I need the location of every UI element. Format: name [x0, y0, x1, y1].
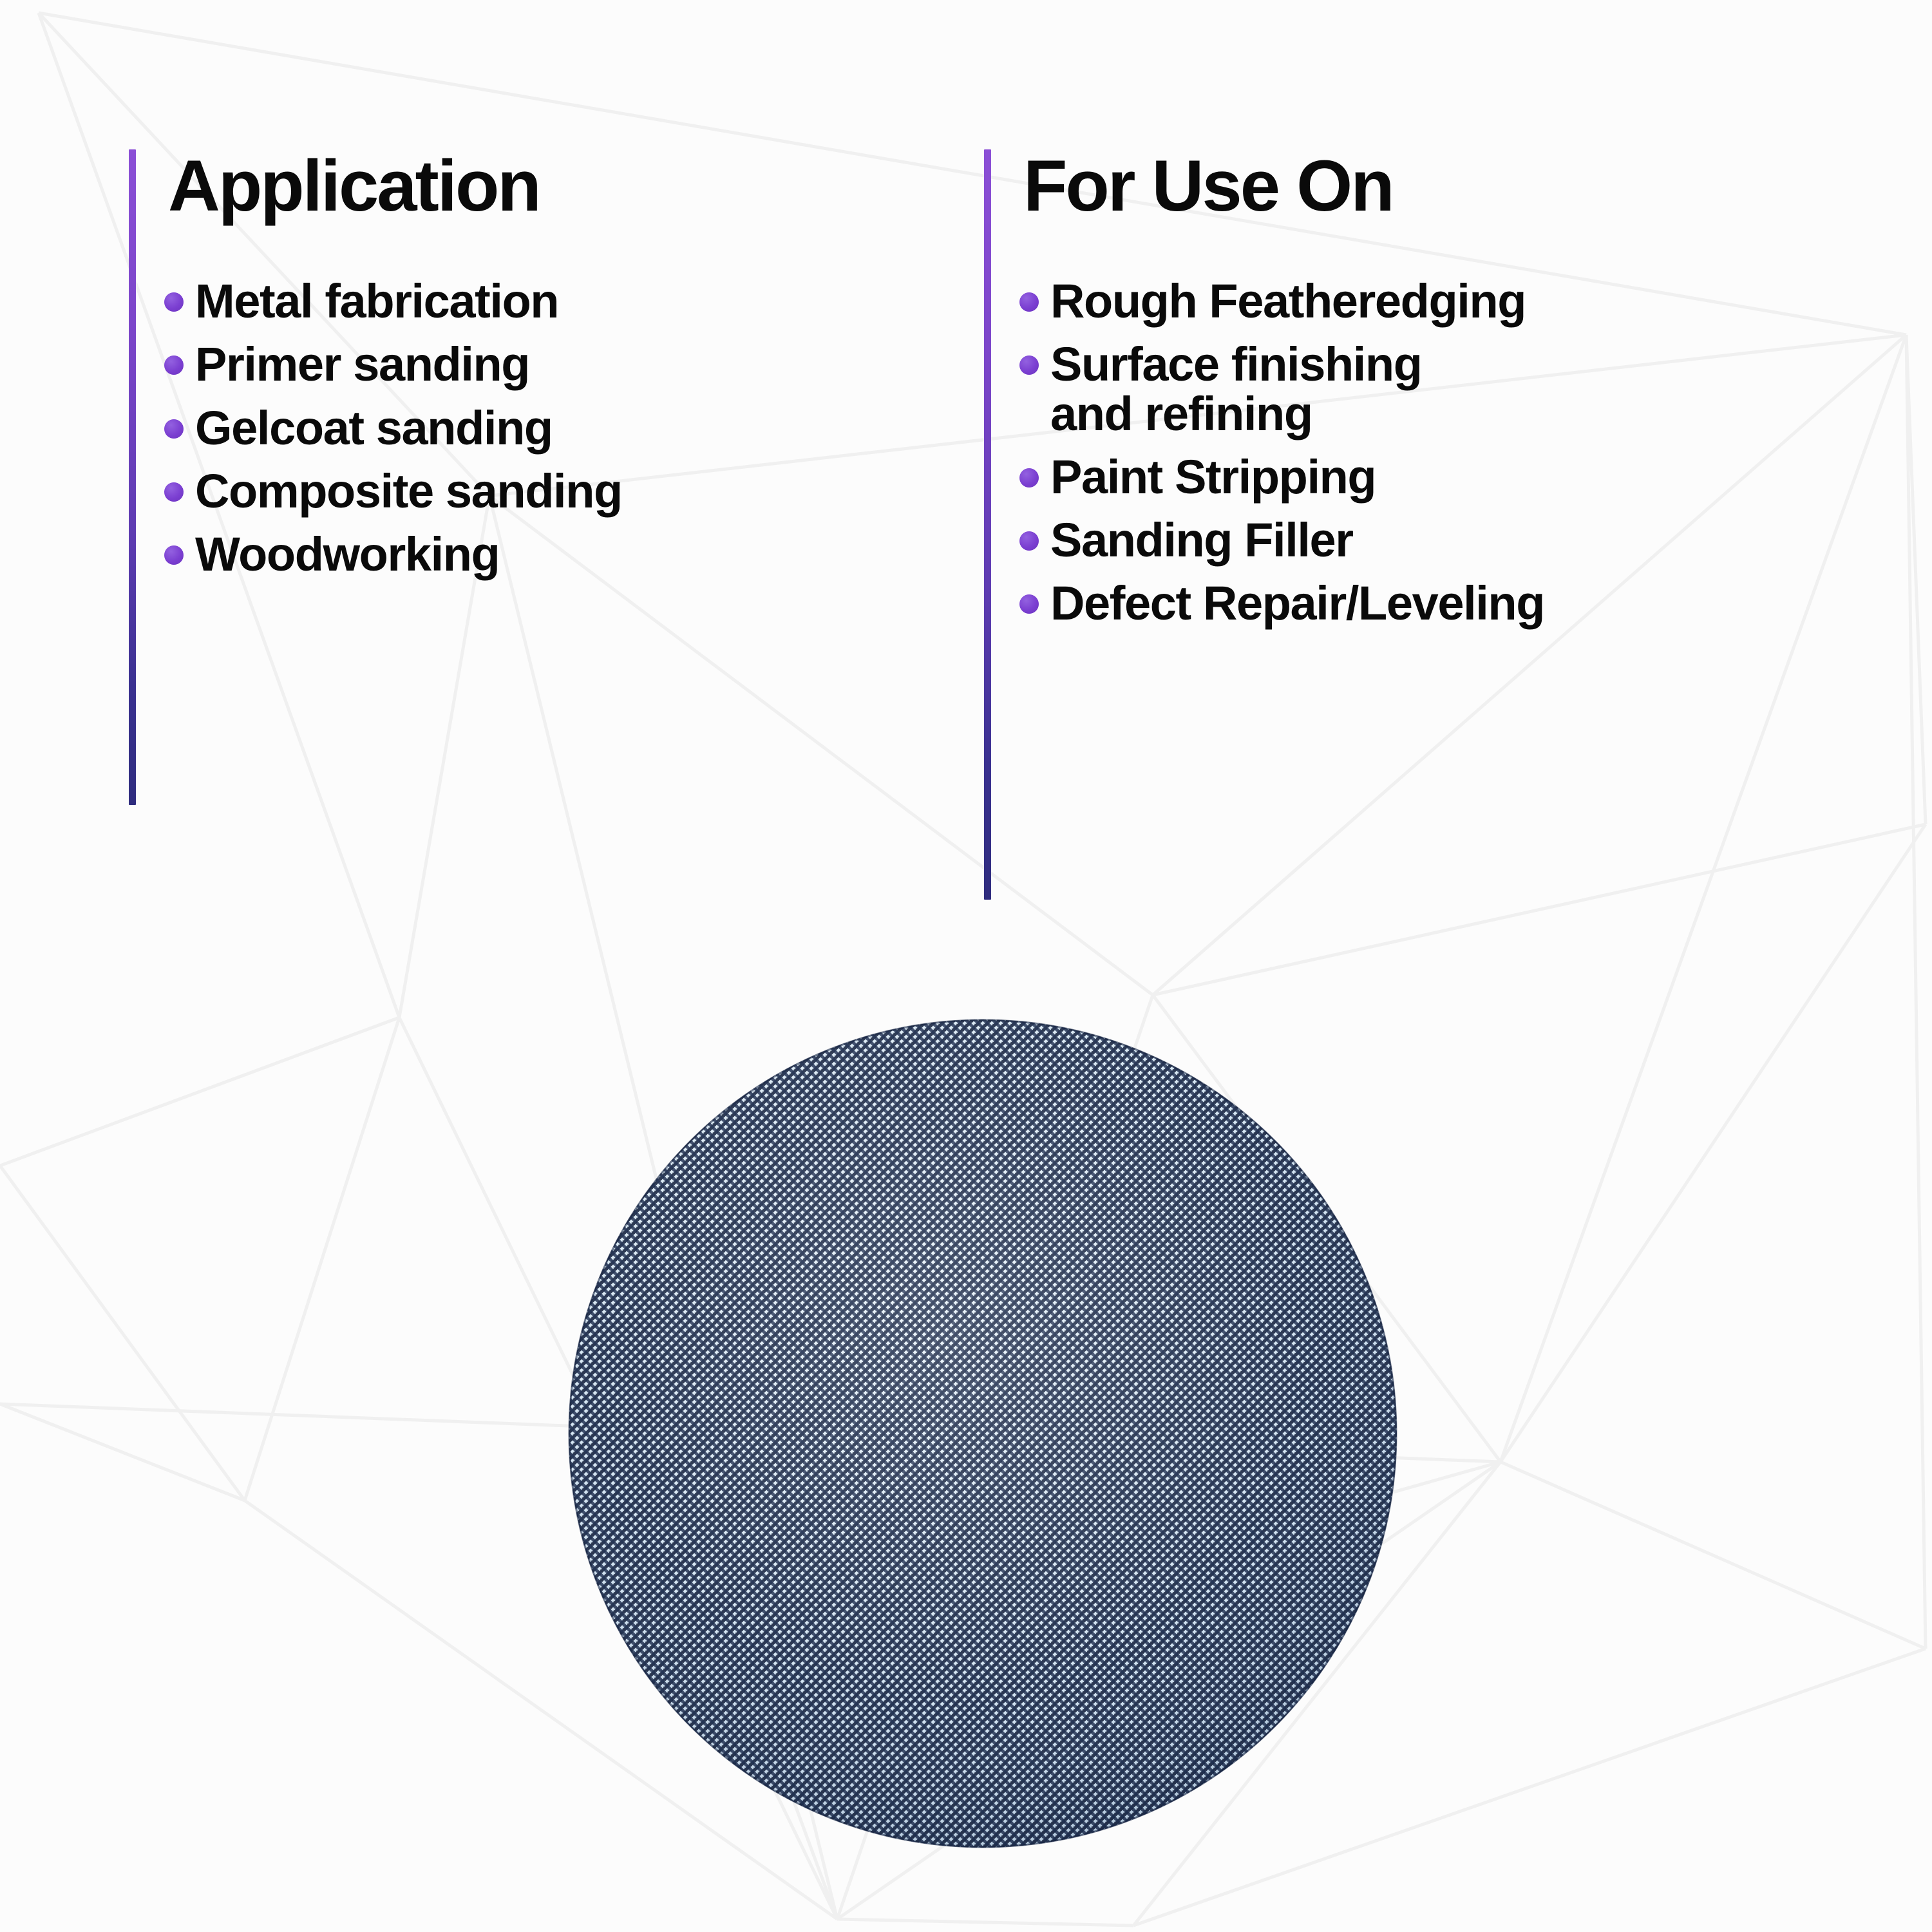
page-title-application: Application: [168, 149, 1066, 223]
page-title-for-use-on: For Use On: [1023, 149, 1921, 223]
list-item: Primer sanding: [164, 340, 1066, 389]
list-item-label: Sanding Filler: [1050, 516, 1353, 565]
list-item: Surface finishing and refining: [1019, 340, 1921, 438]
list-item: Rough Featheredging: [1019, 277, 1921, 326]
bullet-dot-icon: [1019, 355, 1039, 375]
info-panel: Application Metal fabrication Primer san…: [0, 0, 1932, 1932]
bullet-dot-icon: [164, 355, 184, 375]
bullet-dot-icon: [164, 545, 184, 565]
list-item-label: Paint Stripping: [1050, 453, 1376, 502]
list-item: Metal fabrication: [164, 277, 1066, 326]
list-item-label: Surface finishing and refining: [1050, 340, 1422, 438]
list-item-label: Metal fabrication: [195, 277, 558, 326]
list-item-label: Primer sanding: [195, 340, 529, 389]
list-item-label: Defect Repair/Leveling: [1050, 579, 1544, 628]
application-list: Metal fabrication Primer sanding Gelcoat…: [164, 277, 1066, 579]
list-item-label: Composite sanding: [195, 467, 622, 516]
bullet-dot-icon: [164, 419, 184, 439]
list-item: Gelcoat sanding: [164, 404, 1066, 453]
bullet-dot-icon: [164, 292, 184, 312]
list-item-label: Rough Featheredging: [1050, 277, 1526, 326]
list-item: Defect Repair/Leveling: [1019, 579, 1921, 628]
bullet-dot-icon: [1019, 594, 1039, 614]
for-use-on-list: Rough Featheredging Surface finishing an…: [1019, 277, 1921, 628]
list-item: Woodworking: [164, 530, 1066, 579]
list-item-label: Woodworking: [195, 530, 499, 579]
list-item: Paint Stripping: [1019, 453, 1921, 502]
bullet-dot-icon: [164, 482, 184, 502]
accent-rule-right: [984, 149, 991, 900]
list-item: Sanding Filler: [1019, 516, 1921, 565]
bullet-dot-icon: [1019, 531, 1039, 551]
accent-rule-left: [129, 149, 136, 805]
bullet-dot-icon: [1019, 468, 1039, 488]
list-item-label: Gelcoat sanding: [195, 404, 553, 453]
list-item: Composite sanding: [164, 467, 1066, 516]
bullet-dot-icon: [1019, 292, 1039, 312]
